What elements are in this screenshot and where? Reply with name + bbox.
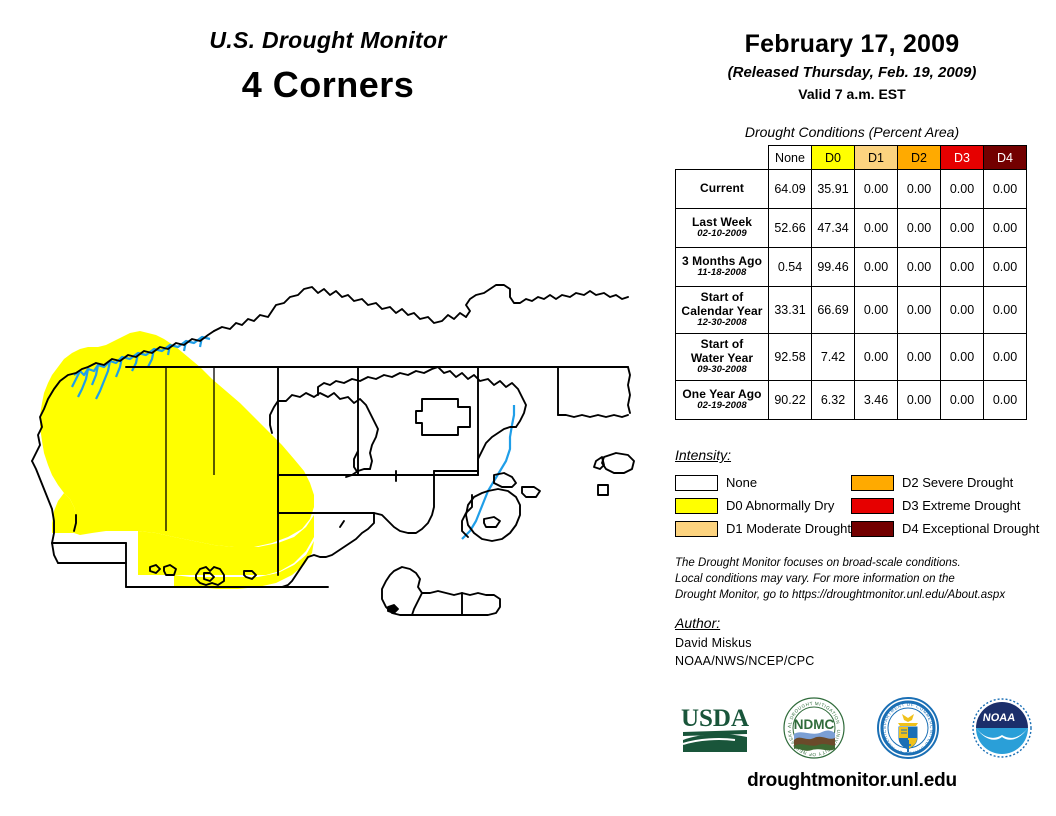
legend-label-d1: D1 Moderate Drought: [726, 521, 851, 536]
disclaimer-line-3: Drought Monitor, go to https://droughtmo…: [675, 588, 1050, 604]
row-label-date: 09-30-2008: [680, 365, 764, 376]
row-label-text: One Year Ago: [680, 388, 764, 402]
cell-current-none: 64.09: [769, 170, 812, 209]
map-panel: U.S. Drought Monitor 4 Corners: [0, 0, 656, 816]
table-header-row: None D0 D1 D2 D3 D4: [676, 146, 1027, 170]
legend-label-none: None: [726, 475, 757, 490]
cell-last-week-none: 52.66: [769, 209, 812, 248]
cell-calendar-year-d1: 0.00: [855, 287, 898, 334]
cell-water-year-d3: 0.00: [941, 334, 984, 381]
row-label-date: 02-10-2009: [680, 229, 764, 240]
logo-row: USDA NATIONAL DROUGHT MITIGATION CENTER …: [664, 692, 1048, 764]
author-name: David Miskus: [675, 634, 1050, 652]
usda-logo: USDA: [679, 700, 751, 756]
row-label-text-line1: Start of: [680, 291, 764, 305]
table-row: Last Week 02-10-2009 52.66 47.34 0.00 0.…: [676, 209, 1027, 248]
cell-one-year-d3: 0.00: [941, 381, 984, 420]
usda-logo-text: USDA: [681, 705, 749, 732]
author-affiliation: NOAA/NWS/NCEP/CPC: [675, 652, 1050, 670]
legend-item-d0: D0 Abnormally Dry: [675, 494, 843, 517]
cell-current-d2: 0.00: [898, 170, 941, 209]
cell-current-d4: 0.00: [984, 170, 1027, 209]
cell-3-months-d1: 0.00: [855, 248, 898, 287]
legend-item-d4: D4 Exceptional Drought: [851, 517, 1050, 540]
cell-calendar-year-d3: 0.00: [941, 287, 984, 334]
commerce-seal-logo: DEPARTMENT OF COMMERCE UNITED STATES OF …: [876, 696, 940, 760]
cell-3-months-d4: 0.00: [984, 248, 1027, 287]
legend-label-d3: D3 Extreme Drought: [902, 498, 1021, 513]
column-header-d2: D2: [898, 146, 941, 170]
noaa-logo: NOAA: [971, 697, 1033, 759]
cell-calendar-year-d0: 66.69: [812, 287, 855, 334]
disclaimer-line-1: The Drought Monitor focuses on broad-sca…: [675, 556, 1050, 572]
cell-one-year-d0: 6.32: [812, 381, 855, 420]
table-row: Start of Calendar Year 12-30-2008 33.31 …: [676, 287, 1027, 334]
cell-one-year-d4: 0.00: [984, 381, 1027, 420]
cell-water-year-d2: 0.00: [898, 334, 941, 381]
table-caption: Drought Conditions (Percent Area): [656, 124, 1048, 140]
column-header-none: None: [769, 146, 812, 170]
legend-swatch-d2: [851, 475, 894, 491]
cell-3-months-d3: 0.00: [941, 248, 984, 287]
ndmc-logo: NATIONAL DROUGHT MITIGATION CENTER UNIVE…: [782, 696, 846, 760]
drought-conditions-table: None D0 D1 D2 D3 D4 Current 64.09 35.91 …: [675, 145, 1027, 420]
legend-swatch-d1: [675, 521, 718, 537]
row-label-current: Current: [676, 170, 769, 209]
column-header-d0: D0: [812, 146, 855, 170]
legend-item-none: None: [675, 471, 843, 494]
cell-3-months-d2: 0.00: [898, 248, 941, 287]
intensity-legend: Intensity: None D2 Severe Drought D0 Abn…: [675, 447, 1050, 540]
row-label-text: Last Week: [680, 216, 764, 230]
intensity-legend-grid: None D2 Severe Drought D0 Abnormally Dry…: [675, 471, 1050, 540]
table-header: None D0 D1 D2 D3 D4: [676, 146, 1027, 170]
disclaimer-line-2: Local conditions may vary. For more info…: [675, 572, 1050, 588]
release-date: (Released Thursday, Feb. 19, 2009): [656, 64, 1048, 81]
noaa-logo-text: NOAA: [982, 712, 1016, 724]
table-row: Start of Water Year 09-30-2008 92.58 7.4…: [676, 334, 1027, 381]
cell-water-year-d1: 0.00: [855, 334, 898, 381]
valid-time: Valid 7 a.m. EST: [656, 86, 1048, 102]
site-url[interactable]: droughtmonitor.unl.edu: [656, 770, 1048, 792]
column-header-d1: D1: [855, 146, 898, 170]
cell-one-year-d2: 0.00: [898, 381, 941, 420]
row-label-date: 12-30-2008: [680, 318, 764, 329]
table-body: Current 64.09 35.91 0.00 0.00 0.00 0.00 …: [676, 170, 1027, 420]
legend-swatch-d3: [851, 498, 894, 514]
drought-map[interactable]: [18, 275, 643, 635]
report-date: February 17, 2009: [656, 30, 1048, 59]
cell-one-year-none: 90.22: [769, 381, 812, 420]
table-row: 3 Months Ago 11-18-2008 0.54 99.46 0.00 …: [676, 248, 1027, 287]
row-label-date: 02-19-2008: [680, 401, 764, 412]
legend-swatch-d0: [675, 498, 718, 514]
row-label-text: Current: [680, 182, 764, 196]
row-label-text-line2: Water Year: [680, 352, 764, 366]
cell-current-d0: 35.91: [812, 170, 855, 209]
legend-item-d1: D1 Moderate Drought: [675, 517, 843, 540]
cell-last-week-d0: 47.34: [812, 209, 855, 248]
cell-current-d1: 0.00: [855, 170, 898, 209]
author-block: Author: David Miskus NOAA/NWS/NCEP/CPC: [675, 615, 1050, 670]
row-label-3-months-ago: 3 Months Ago 11-18-2008: [676, 248, 769, 287]
cell-last-week-d3: 0.00: [941, 209, 984, 248]
cell-one-year-d1: 3.46: [855, 381, 898, 420]
cell-water-year-d0: 7.42: [812, 334, 855, 381]
legend-swatch-none: [675, 475, 718, 491]
cell-water-year-d4: 0.00: [984, 334, 1027, 381]
intensity-legend-title: Intensity:: [675, 447, 1050, 463]
row-label-text: 3 Months Ago: [680, 255, 764, 269]
row-label-one-year-ago: One Year Ago 02-19-2008: [676, 381, 769, 420]
cell-water-year-none: 92.58: [769, 334, 812, 381]
legend-label-d2: D2 Severe Drought: [902, 475, 1013, 490]
info-panel: February 17, 2009 (Released Thursday, Fe…: [656, 0, 1056, 816]
legend-label-d0: D0 Abnormally Dry: [726, 498, 834, 513]
legend-swatch-d4: [851, 521, 894, 537]
author-title: Author:: [675, 615, 1050, 631]
row-label-last-week: Last Week 02-10-2009: [676, 209, 769, 248]
cell-calendar-year-d2: 0.00: [898, 287, 941, 334]
cell-last-week-d2: 0.00: [898, 209, 941, 248]
page-title: U.S. Drought Monitor: [0, 28, 656, 53]
row-label-start-water-year: Start of Water Year 09-30-2008: [676, 334, 769, 381]
legend-item-d3: D3 Extreme Drought: [851, 494, 1050, 517]
cell-last-week-d1: 0.00: [855, 209, 898, 248]
title-block: U.S. Drought Monitor 4 Corners: [0, 28, 656, 105]
drought-map-svg: [18, 275, 643, 635]
legend-label-d4: D4 Exceptional Drought: [902, 521, 1039, 536]
row-label-text-line2: Calendar Year: [680, 305, 764, 319]
column-header-d4: D4: [984, 146, 1027, 170]
row-label-date: 11-18-2008: [680, 268, 764, 279]
cell-3-months-d0: 99.46: [812, 248, 855, 287]
row-label-start-calendar-year: Start of Calendar Year 12-30-2008: [676, 287, 769, 334]
cell-calendar-year-none: 33.31: [769, 287, 812, 334]
region-title: 4 Corners: [0, 65, 656, 105]
ndmc-logo-text: NDMC: [794, 717, 835, 732]
column-header-d3: D3: [941, 146, 984, 170]
date-block: February 17, 2009 (Released Thursday, Fe…: [656, 30, 1048, 102]
row-label-text-line1: Start of: [680, 338, 764, 352]
disclaimer-text: The Drought Monitor focuses on broad-sca…: [675, 556, 1050, 604]
legend-item-d2: D2 Severe Drought: [851, 471, 1050, 494]
table-row: One Year Ago 02-19-2008 90.22 6.32 3.46 …: [676, 381, 1027, 420]
cell-calendar-year-d4: 0.00: [984, 287, 1027, 334]
cell-3-months-none: 0.54: [769, 248, 812, 287]
cell-last-week-d4: 0.00: [984, 209, 1027, 248]
cell-current-d3: 0.00: [941, 170, 984, 209]
table-corner-cell: [676, 146, 769, 170]
table-row: Current 64.09 35.91 0.00 0.00 0.00 0.00: [676, 170, 1027, 209]
